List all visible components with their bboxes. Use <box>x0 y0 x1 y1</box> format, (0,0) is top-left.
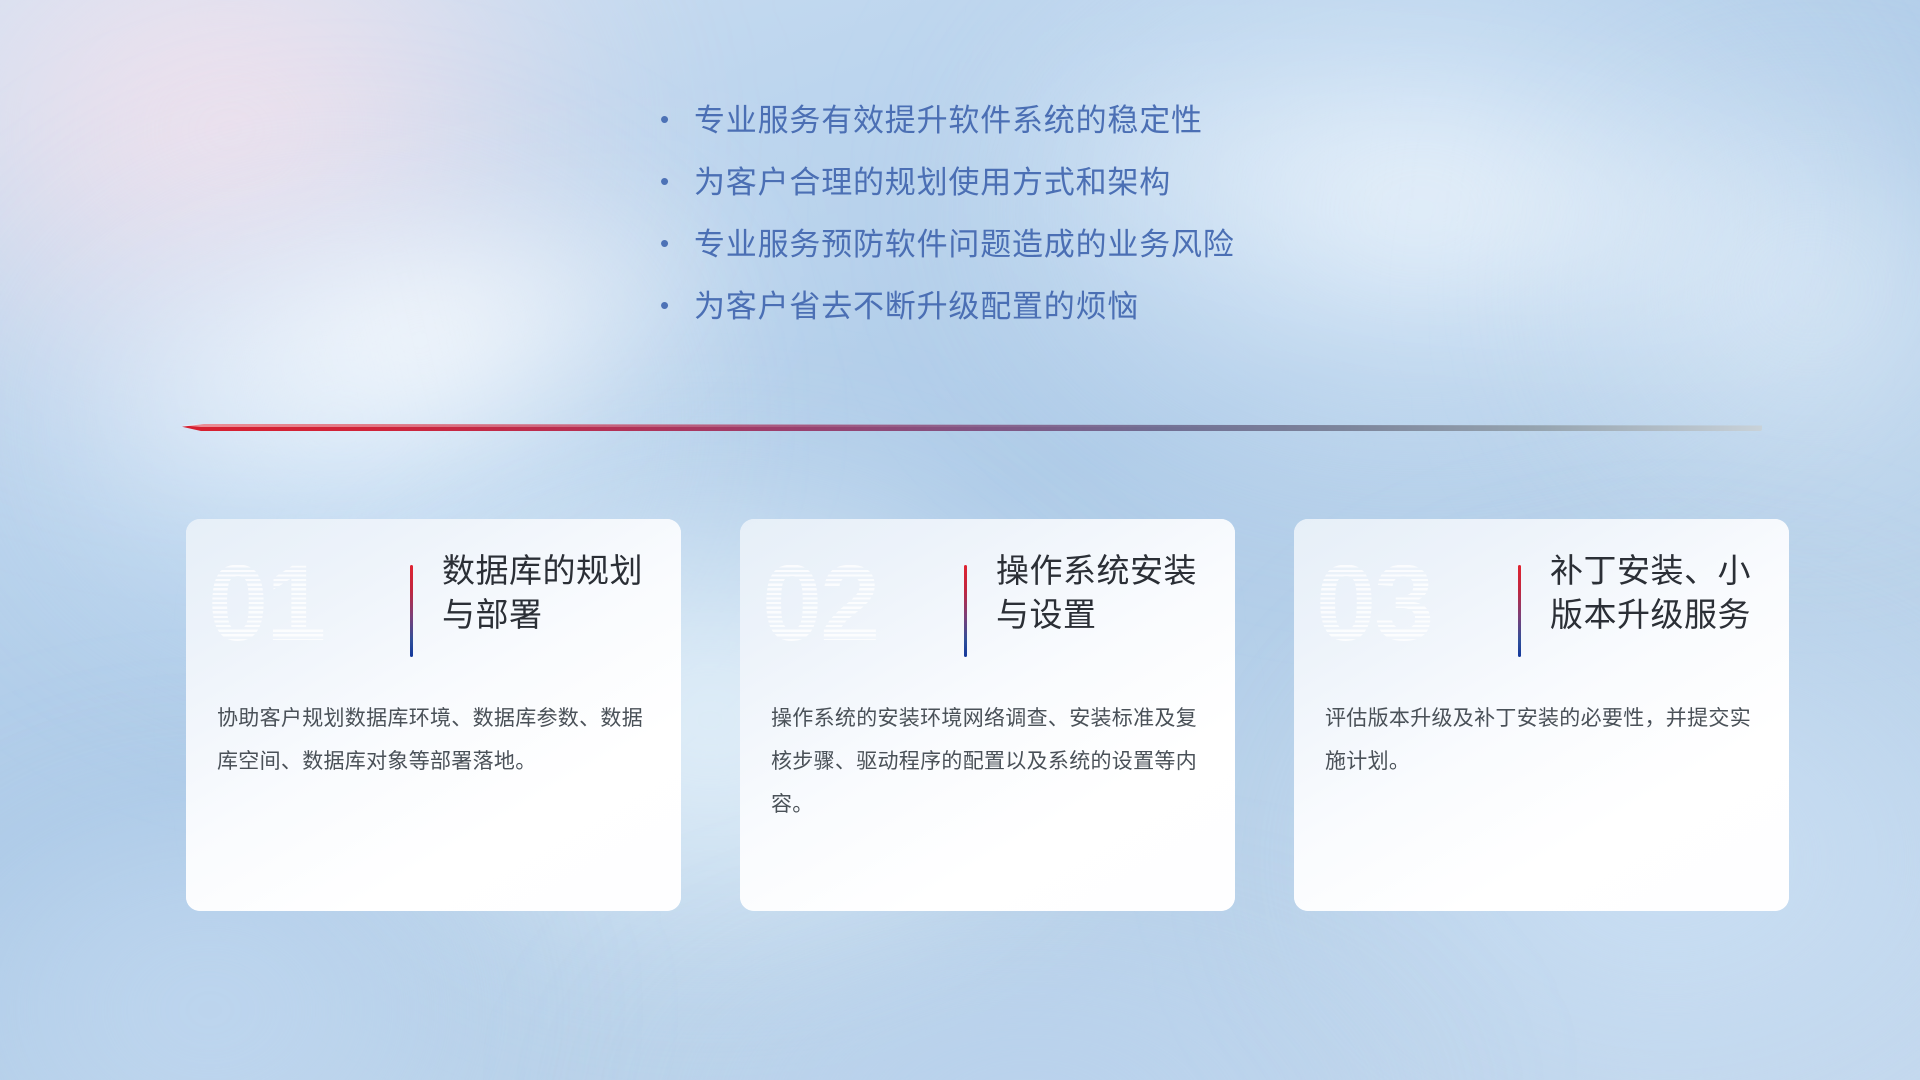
list-item: • 为客户省去不断升级配置的烦恼 <box>660 291 1420 322</box>
card-number: 02 <box>762 549 878 657</box>
card-title-separator <box>410 565 413 657</box>
card-title: 补丁安装、小版本升级服务 <box>1550 549 1780 637</box>
divider-highlight <box>182 424 1762 427</box>
bullet-text: 为客户省去不断升级配置的烦恼 <box>694 291 1139 322</box>
card-title: 数据库的规划与部署 <box>442 549 672 637</box>
bullet-text: 专业服务有效提升软件系统的稳定性 <box>694 105 1203 136</box>
section-divider <box>182 418 1762 442</box>
card-number: 03 <box>1316 549 1432 657</box>
card-header: 03 03 补丁安装、小版本升级服务 <box>1294 543 1789 673</box>
bullet-dot-icon: • <box>660 168 694 194</box>
list-item: • 专业服务预防软件问题造成的业务风险 <box>660 229 1420 260</box>
card-03[interactable]: 03 03 补丁安装、小版本升级服务 评估版本升级及补丁安装的必要性，并提交实施… <box>1294 519 1789 911</box>
card-number-watermark: 03 03 <box>1294 553 1504 673</box>
card-01[interactable]: 01 01 数据库的规划与部署 协助客户规划数据库环境、数据库参数、数据库空间、… <box>186 519 681 911</box>
bullet-dot-icon: • <box>660 230 694 256</box>
card-title-separator <box>964 565 967 657</box>
bullet-text: 为客户合理的规划使用方式和架构 <box>694 167 1171 198</box>
card-header: 02 02 操作系统安装与设置 <box>740 543 1235 673</box>
bullet-list: • 专业服务有效提升软件系统的稳定性 • 为客户合理的规划使用方式和架构 • 专… <box>660 105 1420 322</box>
card-number: 01 <box>208 549 324 657</box>
bullet-text: 专业服务预防软件问题造成的业务风险 <box>694 229 1235 260</box>
card-body-text: 协助客户规划数据库环境、数据库参数、数据库空间、数据库对象等部署落地。 <box>217 697 651 783</box>
list-item: • 专业服务有效提升软件系统的稳定性 <box>660 105 1420 136</box>
card-surface: 01 01 数据库的规划与部署 协助客户规划数据库环境、数据库参数、数据库空间、… <box>186 519 681 911</box>
list-item: • 为客户合理的规划使用方式和架构 <box>660 167 1420 198</box>
card-group: 01 01 数据库的规划与部署 协助客户规划数据库环境、数据库参数、数据库空间、… <box>0 519 1920 919</box>
card-title-separator <box>1518 565 1521 657</box>
card-number-watermark: 02 02 <box>740 553 950 673</box>
card-surface: 02 02 操作系统安装与设置 操作系统的安装环境网络调查、安装标准及复核步骤、… <box>740 519 1235 911</box>
card-body-text: 评估版本升级及补丁安装的必要性，并提交实施计划。 <box>1325 697 1759 783</box>
card-title: 操作系统安装与设置 <box>996 549 1226 637</box>
bullet-dot-icon: • <box>660 292 694 318</box>
card-number-watermark: 01 01 <box>186 553 396 673</box>
bullet-dot-icon: • <box>660 106 694 132</box>
card-header: 01 01 数据库的规划与部署 <box>186 543 681 673</box>
card-body-text: 操作系统的安装环境网络调查、安装标准及复核步骤、驱动程序的配置以及系统的设置等内… <box>771 697 1205 826</box>
card-02[interactable]: 02 02 操作系统安装与设置 操作系统的安装环境网络调查、安装标准及复核步骤、… <box>740 519 1235 911</box>
card-surface: 03 03 补丁安装、小版本升级服务 评估版本升级及补丁安装的必要性，并提交实施… <box>1294 519 1789 911</box>
